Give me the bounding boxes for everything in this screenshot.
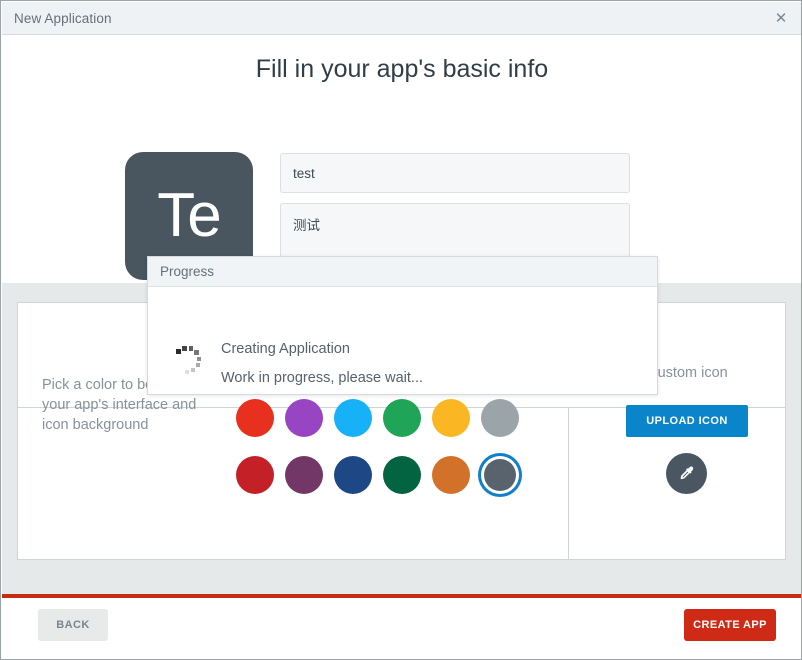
eyedropper-icon[interactable]	[666, 453, 707, 494]
color-swatch-grid	[230, 393, 524, 499]
app-icon-initials: Te	[157, 185, 220, 247]
color-swatch-dot	[383, 399, 421, 437]
progress-dialog-header: Progress	[148, 257, 657, 287]
spinner-dot	[191, 368, 195, 372]
back-button[interactable]: BACK	[38, 609, 108, 641]
color-swatch-purple[interactable]	[279, 393, 328, 442]
progress-dialog-body: Creating Application Work in progress, p…	[148, 287, 657, 394]
app-name-input[interactable]	[280, 153, 630, 193]
close-icon[interactable]: ✕	[766, 2, 796, 34]
loading-spinner-icon	[170, 343, 204, 377]
spinner-dot	[185, 370, 189, 374]
color-swatch-dot	[432, 456, 470, 494]
color-swatch-dark-red[interactable]	[230, 450, 279, 499]
spinner-dot	[182, 346, 187, 351]
spinner-dot	[189, 346, 194, 351]
progress-dialog-title: Progress	[160, 264, 214, 279]
color-swatch-amber[interactable]	[426, 393, 475, 442]
color-swatch-dot	[432, 399, 470, 437]
color-swatch-dot	[285, 456, 323, 494]
progress-messages: Creating Application Work in progress, p…	[221, 341, 423, 386]
color-swatch-dot	[484, 459, 516, 491]
color-swatch-dot	[334, 399, 372, 437]
window-title: New Application	[14, 11, 112, 26]
upload-icon-button[interactable]: UPLOAD ICON	[626, 405, 748, 437]
window-titlebar: New Application ✕	[2, 2, 802, 35]
color-swatch-dark-green[interactable]	[377, 450, 426, 499]
card-vertical-divider	[568, 408, 569, 560]
color-swatch-dark-purple[interactable]	[279, 450, 328, 499]
color-swatch-dot	[285, 399, 323, 437]
color-swatch-dot	[481, 399, 519, 437]
color-swatch-red[interactable]	[230, 393, 279, 442]
progress-dialog: Progress Creating Application Work in pr…	[147, 256, 658, 395]
color-swatch-dot	[236, 399, 274, 437]
spinner-dot	[196, 363, 200, 367]
color-swatch-light-blue[interactable]	[328, 393, 377, 442]
progress-main-message: Creating Application	[221, 341, 423, 357]
color-swatch-dot	[383, 456, 421, 494]
page-title: Fill in your app's basic info	[2, 55, 802, 84]
color-swatch-green[interactable]	[377, 393, 426, 442]
footer-bar: BACK CREATE APP	[2, 598, 802, 659]
color-swatch-dark-blue[interactable]	[328, 450, 377, 499]
progress-sub-message: Work in progress, please wait...	[221, 370, 423, 386]
spinner-dot	[197, 357, 201, 361]
color-swatch-orange[interactable]	[426, 450, 475, 499]
spinner-dot	[194, 350, 198, 354]
color-swatch-dot	[334, 456, 372, 494]
spinner-dot	[176, 349, 181, 354]
color-swatch-slate[interactable]	[475, 450, 524, 499]
color-swatch-dot	[236, 456, 274, 494]
basic-info-panel: Fill in your app's basic info Te	[2, 35, 802, 283]
create-app-button[interactable]: CREATE APP	[684, 609, 776, 641]
new-application-window: New Application ✕ Fill in your app's bas…	[0, 0, 802, 660]
color-swatch-grey[interactable]	[475, 393, 524, 442]
